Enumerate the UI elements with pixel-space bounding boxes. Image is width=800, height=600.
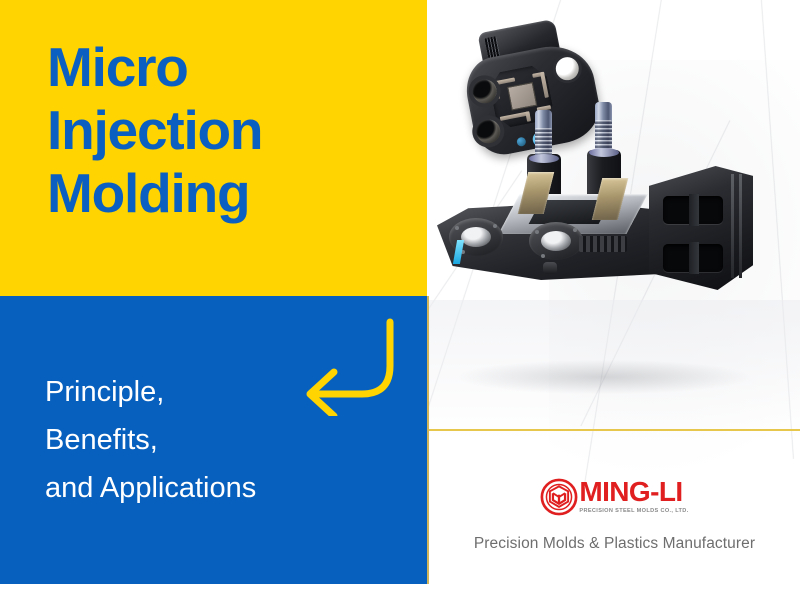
footer-tagline: Precision Molds & Plastics Manufacturer — [429, 535, 800, 553]
page-title: Micro Injection Molding — [47, 36, 407, 225]
product-shadow — [459, 360, 749, 394]
footer: MING-LI PRECISION STEEL MOLDS CO., LTD. … — [429, 429, 800, 600]
curved-arrow-left-icon — [292, 316, 402, 416]
left-column: Micro Injection Molding Principle, Benef… — [0, 0, 427, 600]
logo-wordmark: MING-LI — [579, 477, 682, 506]
title-panel: Micro Injection Molding — [0, 0, 427, 296]
logo-wordmark-wrap: MING-LI PRECISION STEEL MOLDS CO., LTD. — [579, 477, 688, 516]
logo-subtext: PRECISION STEEL MOLDS CO., LTD. — [579, 507, 688, 516]
marketing-banner: Micro Injection Molding Principle, Benef… — [0, 0, 800, 600]
right-column: MING-LI PRECISION STEEL MOLDS CO., LTD. … — [429, 0, 800, 600]
logo-lockup: MING-LI PRECISION STEEL MOLDS CO., LTD. — [429, 477, 800, 516]
ming-li-hexagon-logo-icon — [540, 478, 578, 516]
product-image-connector-block — [431, 140, 781, 390]
bottom-white-strip — [0, 584, 427, 600]
